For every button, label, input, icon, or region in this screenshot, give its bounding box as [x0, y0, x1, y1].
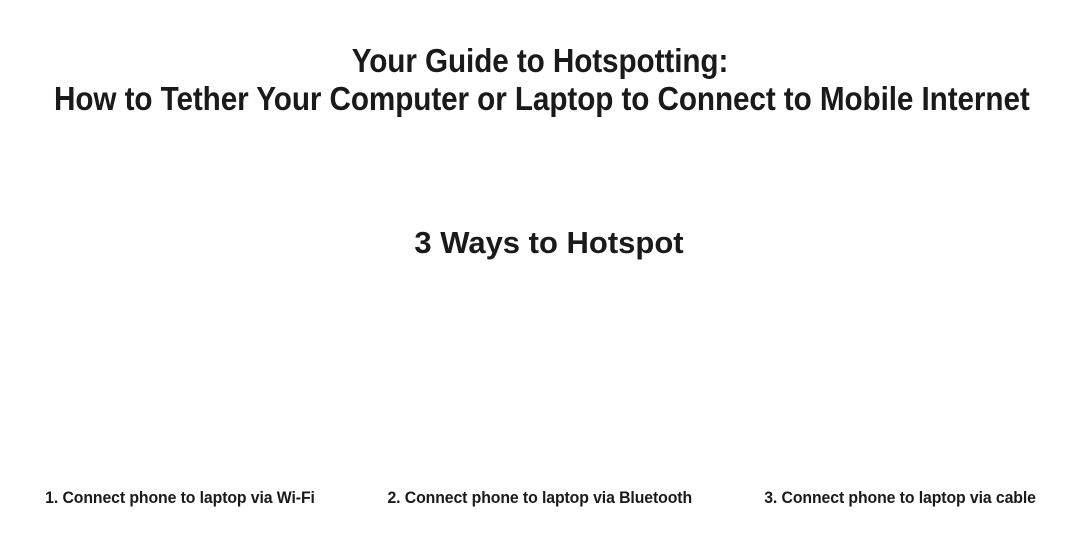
document-page: Your Guide to Hotspotting: How to Tether…: [0, 0, 1080, 552]
step-item-2: 2. Connect phone to laptop via Bluetooth: [360, 487, 720, 509]
caption-row: 1. Connect phone to laptop via Wi-Fi 2. …: [0, 487, 1080, 509]
step-item-1: 1. Connect phone to laptop via Wi-Fi: [0, 487, 360, 509]
section-heading-text: 3 Ways to Hotspot: [414, 224, 683, 262]
step-caption-1: 1. Connect phone to laptop via Wi-Fi: [45, 487, 315, 509]
illustration-row: [0, 286, 1080, 476]
page-title: Your Guide to Hotspotting: How to Tether…: [0, 42, 1080, 118]
illustration-bluetooth: [360, 286, 720, 476]
step-caption-2: 2. Connect phone to laptop via Bluetooth: [388, 487, 693, 509]
step-caption-3: 3. Connect phone to laptop via cable: [764, 487, 1036, 509]
page-title-line-2: How to Tether Your Computer or Laptop to…: [54, 80, 1026, 118]
step-item-3: 3. Connect phone to laptop via cable: [720, 487, 1080, 509]
illustration-cable: [720, 286, 1080, 476]
page-title-line-1: Your Guide to Hotspotting:: [54, 42, 1026, 80]
section-heading: 3 Ways to Hotspot: [0, 224, 1080, 262]
illustration-wifi: [0, 286, 360, 476]
